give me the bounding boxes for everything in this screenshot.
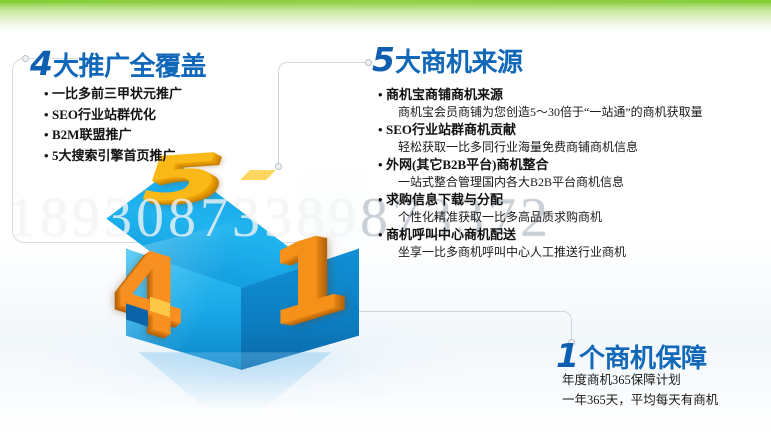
list-item-label: 一比多前三甲状元推广 [52, 86, 182, 101]
cube-digit-left: 4 [116, 228, 185, 355]
list-item-desc: 轻松获取一比多同行业海量免费商铺商机信息 [378, 138, 703, 156]
top-green-rule [0, 0, 771, 3]
list-item-desc: 个性化精准获取一比多高品质求购商机 [378, 208, 703, 226]
list-item-desc: 商机宝会员商铺为您创造5～30倍于“一站通”的商机获取量 [378, 103, 703, 121]
list-item-desc: 坐享一比多商机呼叫中心人工推送行业商机 [378, 243, 703, 261]
bullet-dot: • [378, 191, 386, 208]
list-item: •商机宝商铺商机来源 [378, 86, 703, 103]
connector-dot-left [22, 55, 29, 62]
list-item: •一比多前三甲状元推广 [44, 84, 182, 105]
list-item-label: B2M联盟推广 [52, 127, 131, 142]
bullet-dot: • [44, 125, 52, 146]
list-item-title: 求购信息下载与分配 [386, 192, 503, 207]
left-heading: 4大推广全覆盖 [30, 44, 206, 83]
list-item-label: 5大搜索引擎首页推广 [52, 148, 176, 163]
bullet-dot: • [378, 156, 386, 173]
bullet-dot: • [378, 121, 386, 138]
right-heading: 5大商机来源 [372, 40, 522, 79]
bottom-text-block: 年度商机365保障计划 一年365天，平均每天有商机 [562, 370, 718, 410]
list-item-title: 商机宝商铺商机来源 [386, 87, 503, 102]
bullet-dot: • [44, 84, 52, 105]
list-item: •SEO行业站群优化 [44, 105, 182, 126]
list-item: •5大搜索引擎首页推广 [44, 146, 182, 167]
bullet-dot: • [44, 105, 52, 126]
right-bullet-list: •商机宝商铺商机来源 商机宝会员商铺为您创造5～30倍于“一站通”的商机获取量 … [378, 86, 703, 261]
list-item: •B2M联盟推广 [44, 125, 182, 146]
left-heading-number: 4 [30, 44, 53, 83]
list-item-desc: 一站式整合管理国内各大B2B平台商机信息 [378, 173, 703, 191]
right-heading-text: 大商机来源 [395, 48, 523, 78]
bullet-dot: • [378, 226, 386, 243]
bottom-line: 一年365天，平均每天有商机 [562, 390, 718, 410]
cube-digit-right: 1 [268, 215, 342, 344]
list-item: •SEO行业站群商机贡献 [378, 121, 703, 138]
list-item: •商机呼叫中心商机配送 [378, 226, 703, 243]
list-item-title: 外网(其它B2B平台)商机整合 [386, 157, 549, 172]
list-item: •求购信息下载与分配 [378, 191, 703, 208]
bottom-line: 年度商机365保障计划 [562, 370, 718, 390]
connector-dot-right [365, 59, 372, 66]
connector-line-right [278, 62, 368, 167]
poster-canvas: 5 4 1 18930873389873372 4大推广全覆盖 •一比多前三甲状… [0, 0, 771, 434]
list-item-label: SEO行业站群优化 [52, 107, 156, 122]
bullet-dot: • [44, 146, 52, 167]
top-green-band [0, 0, 771, 34]
list-item-title: SEO行业站群商机贡献 [386, 122, 516, 137]
bullet-dot: • [378, 86, 386, 103]
left-heading-text: 大推广全覆盖 [53, 52, 206, 82]
right-heading-number: 5 [372, 40, 395, 79]
list-item: •外网(其它B2B平台)商机整合 [378, 156, 703, 173]
list-item-title: 商机呼叫中心商机配送 [386, 227, 516, 242]
left-bullet-list: •一比多前三甲状元推广 •SEO行业站群优化 •B2M联盟推广 •5大搜索引擎首… [44, 84, 182, 166]
